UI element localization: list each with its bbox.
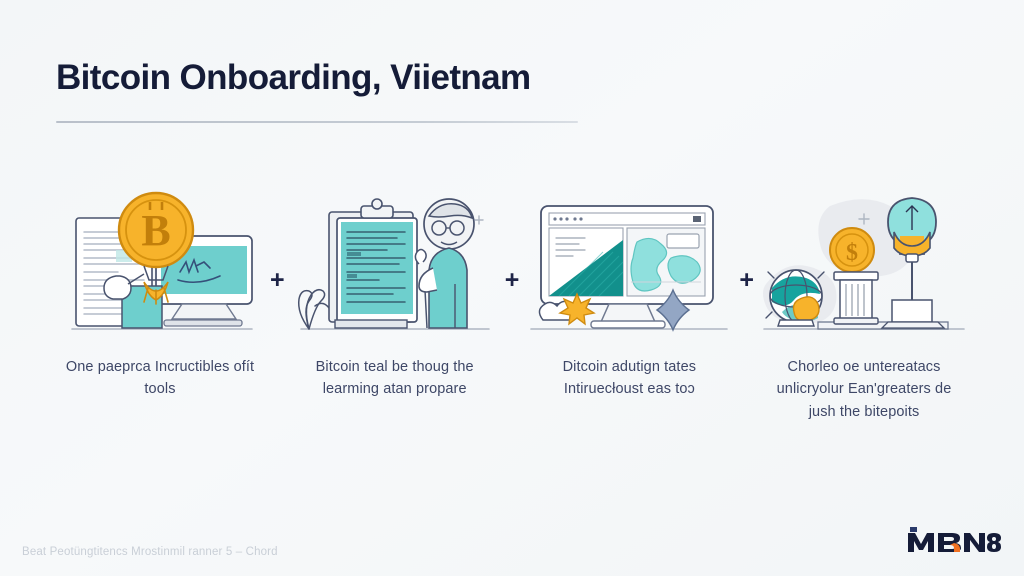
column-1: B One paeprca Incructibles: [56, 188, 264, 401]
page-title: Bitcoin Onboarding, Viietnam: [56, 58, 756, 98]
title-divider: [56, 121, 578, 123]
svg-text:$: $: [846, 240, 858, 266]
column-3: Ditcoin adutign tates Intiruecłoust eas …: [525, 188, 733, 401]
column-4: $: [760, 188, 968, 423]
column-3-caption: Ditcoin adutign tates Intiruecłoust eas …: [525, 356, 733, 401]
column-2-caption: Bitcoin teal be thoug the learming atan …: [291, 356, 499, 401]
column-4-caption: Chorleo oe untereatacs unlicryolur Ean'g…: [760, 356, 968, 423]
plus-separator-2: +: [499, 188, 526, 293]
svg-text:B: B: [141, 206, 170, 255]
brand-logo: [898, 522, 1002, 556]
plus-separator-1: +: [264, 188, 291, 293]
globe-coin-pillar-lightbulb-illustration: $: [760, 188, 968, 336]
plus-separator-3: +: [733, 188, 760, 293]
column-2: Bitcoin teal be thoug the learming atan …: [291, 188, 499, 401]
title-block: Bitcoin Onboarding, Viietnam: [56, 58, 756, 98]
column-1-caption: One paeprca Incructibles ofít tools: [56, 356, 264, 401]
document-bitcoin-coin-monitor-illustration: B: [56, 188, 264, 336]
footer-note: Beat Peotüngtitencs Mrostinmil ranner 5 …: [22, 546, 278, 558]
clipboard-person-illustration: [291, 188, 499, 336]
mbn8-logo-icon: [898, 524, 1002, 556]
slide-canvas: Bitcoin Onboarding, Viietnam: [0, 0, 1024, 576]
columns-row: B One paeprca Incructibles: [56, 188, 968, 438]
monitor-dashboard-chart-map-illustration: [525, 188, 733, 336]
